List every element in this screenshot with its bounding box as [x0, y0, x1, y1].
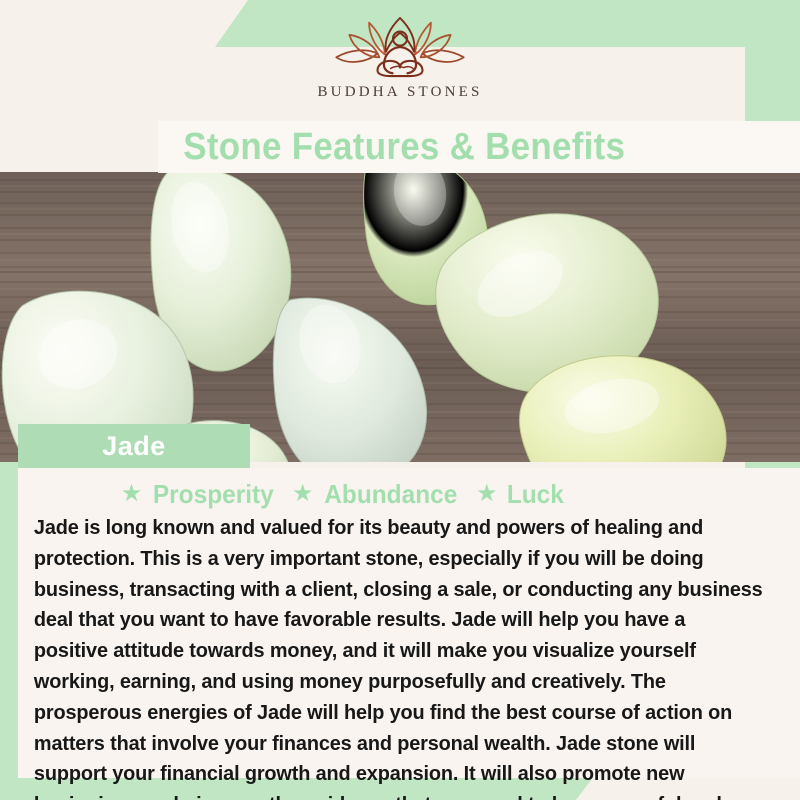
- stone-name-banner: Jade: [18, 424, 250, 468]
- brand-name: BUDDHA STONES: [317, 84, 482, 101]
- benefit-item: ★ Abundance: [292, 479, 462, 510]
- star-icon: ★: [292, 482, 314, 506]
- stone-name: Jade: [102, 431, 166, 462]
- benefit-label: Prosperity: [153, 479, 274, 510]
- stone-description: Jade is long known and valued for its be…: [28, 513, 767, 800]
- benefits-list: ★ Prosperity ★ Abundance ★ Luck: [28, 478, 778, 510]
- benefit-label: Luck: [506, 479, 563, 510]
- stone-details-panel: ★ Prosperity ★ Abundance ★ Luck Jade is …: [18, 468, 800, 778]
- stone-photo: [0, 172, 800, 462]
- benefit-item: ★ Luck: [476, 479, 565, 510]
- brand-header: BUDDHA STONES: [0, 0, 800, 120]
- page-title: Stone Features & Benefits: [183, 126, 625, 169]
- infographic-page: BUDDHA STONES Stone Features & Benefits: [0, 0, 800, 800]
- star-icon: ★: [476, 482, 498, 506]
- lotus-meditation-logo-icon: [325, 16, 475, 78]
- star-icon: ★: [121, 482, 143, 506]
- page-title-banner: Stone Features & Benefits: [158, 121, 800, 173]
- benefit-label: Abundance: [325, 479, 458, 510]
- benefit-item: ★ Prosperity: [121, 479, 278, 510]
